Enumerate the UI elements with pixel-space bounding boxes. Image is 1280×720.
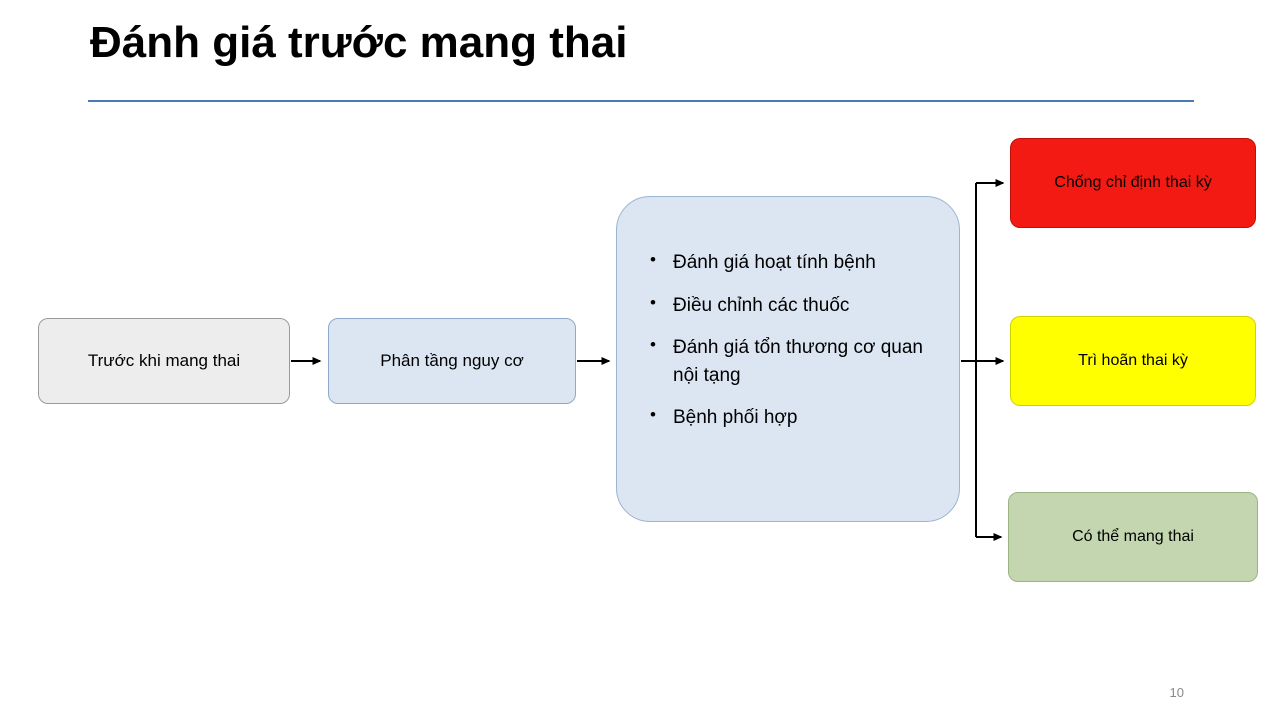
- flow-node-risk-stratification[interactable]: Phân tầng nguy cơ: [328, 318, 576, 404]
- flow-node-assessment[interactable]: Đánh giá hoạt tính bệnh Điều chỉnh các t…: [616, 196, 960, 522]
- title-divider: [88, 100, 1194, 102]
- page-number: 10: [1170, 685, 1184, 700]
- page-title: Đánh giá trước mang thai: [90, 18, 627, 68]
- flow-node-pregnancy-possible-label: Có thể mang thai: [1072, 527, 1194, 548]
- assessment-item-list: Đánh giá hoạt tính bệnh Điều chỉnh các t…: [635, 249, 945, 432]
- list-item: Điều chỉnh các thuốc: [635, 292, 945, 320]
- list-item: Bệnh phối hợp: [635, 404, 945, 432]
- flow-node-contraindicated-label: Chống chỉ định thai kỳ: [1054, 173, 1211, 194]
- flow-node-pregnancy-possible[interactable]: Có thể mang thai: [1008, 492, 1258, 582]
- list-item: Đánh giá tổn thương cơ quan nội tạng: [635, 334, 945, 389]
- flow-node-delay-pregnancy[interactable]: Trì hoãn thai kỳ: [1010, 316, 1256, 406]
- flow-node-before-pregnancy[interactable]: Trước khi mang thai: [38, 318, 290, 404]
- flow-node-delay-pregnancy-label: Trì hoãn thai kỳ: [1078, 351, 1188, 372]
- flow-node-before-pregnancy-label: Trước khi mang thai: [88, 350, 240, 372]
- list-item: Đánh giá hoạt tính bệnh: [635, 249, 945, 277]
- flow-node-risk-stratification-label: Phân tầng nguy cơ: [380, 350, 523, 372]
- flow-node-contraindicated[interactable]: Chống chỉ định thai kỳ: [1010, 138, 1256, 228]
